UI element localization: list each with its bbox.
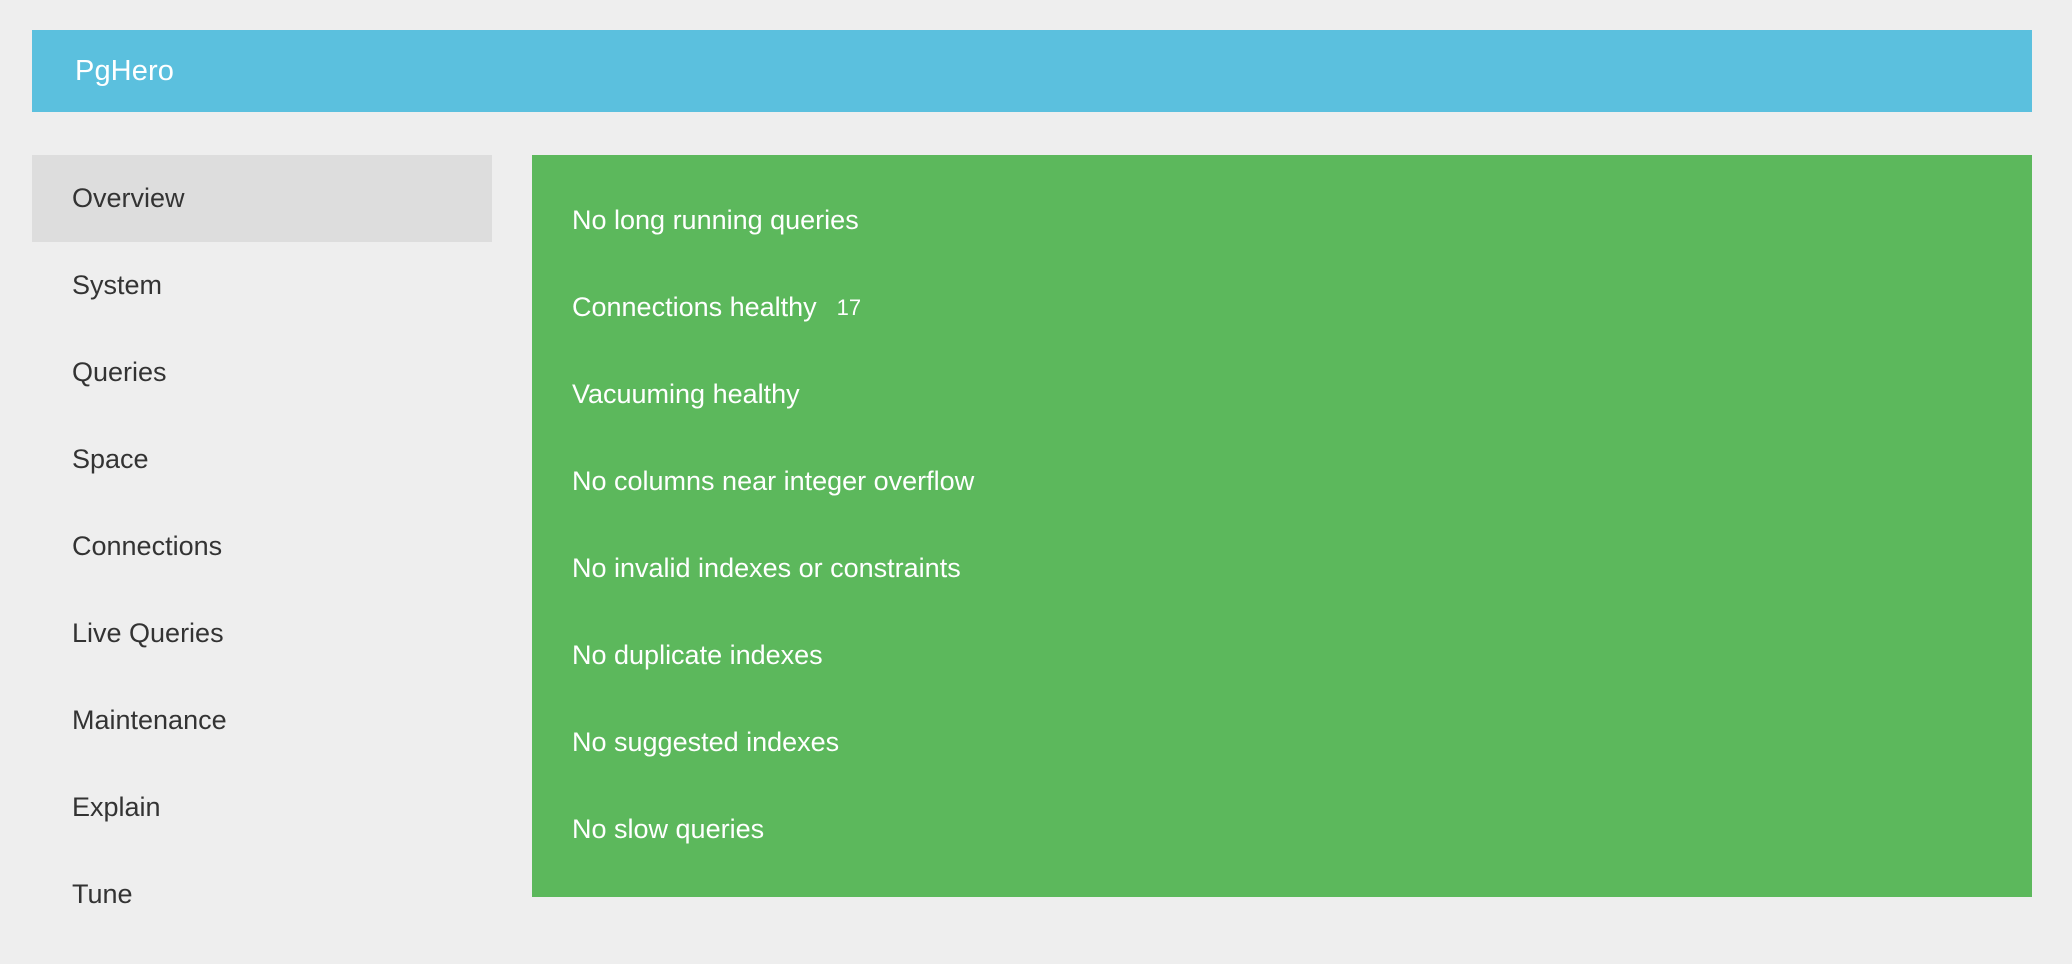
status-count: 17 (837, 297, 861, 319)
sidebar-item-connections[interactable]: Connections (32, 503, 492, 590)
status-row: No long running queries (532, 177, 2032, 264)
sidebar-item-explain[interactable]: Explain (32, 764, 492, 851)
status-row: Vacuuming healthy (532, 351, 2032, 438)
status-label: No long running queries (572, 207, 859, 234)
status-row: No columns near integer overflow (532, 438, 2032, 525)
sidebar-item-live-queries[interactable]: Live Queries (32, 590, 492, 677)
status-row: No invalid indexes or constraints (532, 525, 2032, 612)
status-label: No invalid indexes or constraints (572, 555, 961, 582)
status-label: No slow queries (572, 816, 764, 843)
status-row: Connections healthy17 (532, 264, 2032, 351)
status-label: No suggested indexes (572, 729, 839, 756)
status-label: Vacuuming healthy (572, 381, 800, 408)
sidebar-nav: OverviewSystemQueriesSpaceConnectionsLiv… (32, 155, 492, 938)
brand-link[interactable]: PgHero (75, 57, 174, 86)
sidebar-item-space[interactable]: Space (32, 416, 492, 503)
status-label: Connections healthy (572, 294, 817, 321)
status-row: No suggested indexes (532, 699, 2032, 786)
sidebar-item-tune[interactable]: Tune (32, 851, 492, 938)
content-area: OverviewSystemQueriesSpaceConnectionsLiv… (32, 155, 2032, 915)
sidebar-item-queries[interactable]: Queries (32, 329, 492, 416)
app-root: PgHero OverviewSystemQueriesSpaceConnect… (0, 0, 2072, 964)
status-label: No duplicate indexes (572, 642, 823, 669)
sidebar-item-maintenance[interactable]: Maintenance (32, 677, 492, 764)
status-panel: No long running queriesConnections healt… (532, 155, 2032, 897)
status-label: No columns near integer overflow (572, 468, 974, 495)
top-navbar: PgHero (32, 30, 2032, 112)
status-row: No duplicate indexes (532, 612, 2032, 699)
status-row: No slow queries (532, 786, 2032, 873)
sidebar-item-overview[interactable]: Overview (32, 155, 492, 242)
sidebar-item-system[interactable]: System (32, 242, 492, 329)
